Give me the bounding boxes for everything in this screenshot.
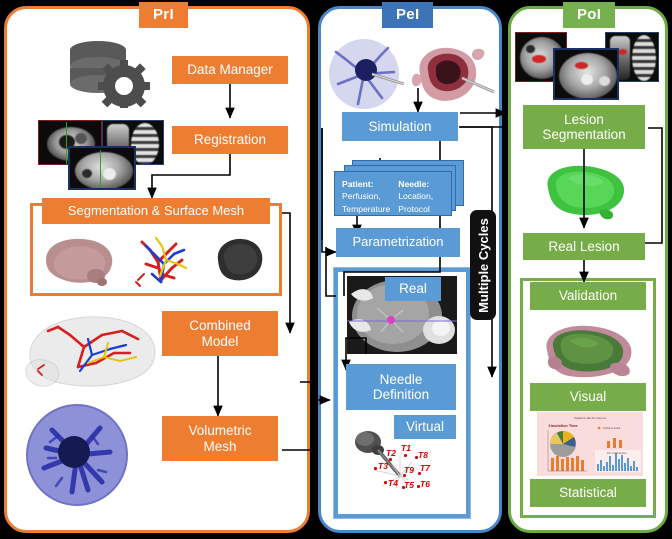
tip-dot-t7 xyxy=(418,472,421,475)
patient-parameters: Patient: Perfusion, Temperature xyxy=(342,178,390,209)
ct-slice-thumbnails-pri xyxy=(36,118,166,190)
validation-box[interactable]: Validation xyxy=(530,282,646,310)
multiple-cycles-label: Multiple Cycles xyxy=(476,218,491,313)
tip-label-t3: T3 xyxy=(378,461,388,471)
parameter-card-front[interactable]: Patient: Perfusion, Temperature Needle: … xyxy=(334,171,452,216)
needle-parameters-title: Needle: xyxy=(398,178,433,190)
visual-box[interactable]: Visual xyxy=(530,383,646,411)
tip-dot-t1 xyxy=(404,454,407,457)
virtual-label-box: Virtual xyxy=(394,415,456,439)
real-lesion-render xyxy=(538,160,634,222)
combined-model-render xyxy=(18,305,168,395)
tip-dot-t6 xyxy=(417,485,420,488)
tip-label-t6: T6 xyxy=(420,479,430,489)
tumor-surface-mesh-render xyxy=(210,234,268,286)
tip-dot-t9 xyxy=(403,474,406,477)
patient-parameter-2: Temperature xyxy=(342,204,390,214)
combined-model-line-1: Combined xyxy=(189,318,251,333)
tip-label-t1: T1 xyxy=(401,443,411,453)
needle-definition-line-2: Definition xyxy=(373,387,429,402)
ct-slice-thumbnails-poi xyxy=(513,30,661,102)
segmentation-surface-mesh-box[interactable]: Segmentation & Surface Mesh xyxy=(42,198,270,224)
data-manager-box[interactable]: Data Manager xyxy=(172,56,288,84)
needle-definition-line-1: Needle xyxy=(380,372,423,387)
patient-parameter-1: Perfusion, xyxy=(342,191,381,201)
svg-text:Surface Area: Surface Area xyxy=(603,426,621,430)
vessel-tree-render xyxy=(128,230,194,292)
needle-parameter-2: Protocol xyxy=(398,204,430,214)
parametrization-box[interactable]: Parametrization xyxy=(336,228,460,257)
perfusion-sphere-render-pei xyxy=(324,36,408,114)
volumetric-mesh-render xyxy=(22,400,132,510)
lesion-segmentation-line-1: Lesion xyxy=(564,112,604,127)
tip-dot-t5 xyxy=(402,486,405,489)
needle-definition-box[interactable]: Needle Definition xyxy=(346,364,456,410)
needle-parameters: Needle: Location, Protocol xyxy=(398,178,433,209)
volumetric-mesh-line-1: Volumetric xyxy=(188,423,251,438)
svg-text:Simulation Time: Simulation Time xyxy=(548,424,577,428)
statistical-box[interactable]: Statistical xyxy=(530,479,646,507)
tip-dot-t8 xyxy=(415,456,418,459)
multiple-cycles-bar: Multiple Cycles xyxy=(470,210,496,320)
stage-tab-pei[interactable]: PeI xyxy=(382,2,433,28)
tip-label-t5: T5 xyxy=(404,480,414,490)
combined-model-box[interactable]: Combined Model xyxy=(162,311,278,356)
database-gear-icon xyxy=(56,36,161,108)
liver-surface-mesh-render xyxy=(40,232,120,290)
svg-text:Error Distribution: Error Distribution xyxy=(607,452,627,455)
tip-label-t4: T4 xyxy=(388,478,398,488)
lesion-segmentation-line-2: Segmentation xyxy=(542,127,625,142)
needle-parameter-1: Location, xyxy=(398,191,433,201)
combined-model-line-2: Model xyxy=(202,334,239,349)
volumetric-mesh-box[interactable]: Volumetric Mesh xyxy=(162,416,278,461)
real-lesion-box[interactable]: Real Lesion xyxy=(523,233,645,260)
tip-dot-t3 xyxy=(374,467,377,470)
statistical-charts-thumbnail: Pipeline Performance Simulation Time Sur… xyxy=(537,412,643,476)
ablation-zone-render-pei xyxy=(406,38,496,112)
real-label-box: Real xyxy=(385,277,441,301)
stage-tab-pri[interactable]: PrI xyxy=(139,2,188,28)
tip-label-t8: T8 xyxy=(418,450,428,460)
lesion-segmentation-box[interactable]: Lesion Segmentation xyxy=(523,105,645,149)
tip-label-t7: T7 xyxy=(420,463,430,473)
validation-overlay-render xyxy=(535,320,643,382)
patient-parameters-title: Patient: xyxy=(342,178,390,190)
parameter-card-stack: Patient: Perfusion, Temperature Needle: … xyxy=(330,160,470,216)
simulation-box[interactable]: Simulation xyxy=(342,112,458,141)
tip-dot-t4 xyxy=(384,481,387,484)
stage-tab-poi[interactable]: PoI xyxy=(563,2,615,28)
tip-dot-t2 xyxy=(389,458,392,461)
registration-box[interactable]: Registration xyxy=(172,126,288,154)
volumetric-mesh-line-2: Mesh xyxy=(203,439,236,454)
tip-label-t2: T2 xyxy=(386,448,396,458)
svg-text:Pipeline Performance: Pipeline Performance xyxy=(574,416,606,420)
